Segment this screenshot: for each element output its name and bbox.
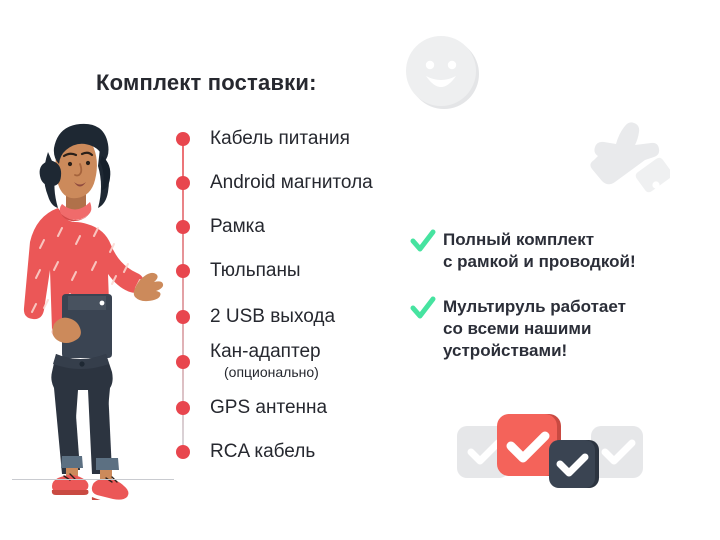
list-item-label: Кабель питания [210, 128, 350, 149]
bullet-dot-icon [176, 355, 190, 369]
list-item-label: Тюльпаны [210, 260, 301, 281]
feature-line: устройствами! [443, 341, 567, 360]
page-title: Комплект поставки: [96, 70, 317, 96]
green-check-icon [410, 228, 436, 254]
checkbox-card-navy [549, 440, 599, 488]
list-item: 2 USB выхода [176, 306, 335, 328]
avito-watermark: Avito [602, 498, 708, 532]
green-check-icon [410, 295, 436, 321]
list-item: Кан-адаптер (опционально) [176, 341, 321, 382]
feature-line: Полный комплект [443, 230, 594, 249]
list-item-label: Android магнитола [210, 172, 373, 193]
list-item-label: GPS антенна [210, 397, 327, 418]
feature-line: с рамкой и проводкой! [443, 252, 636, 271]
list-item: RCA кабель [176, 441, 315, 463]
list-item: Android магнитола [176, 172, 373, 194]
feature-multisteering: Мультируль работает со всеми нашими устр… [410, 296, 626, 362]
bullet-dot-icon [176, 445, 190, 459]
kit-list: Кабель питания Android магнитола Рамка Т… [176, 128, 406, 458]
bullet-dot-icon [176, 401, 190, 415]
list-item-label: RCA кабель [210, 441, 315, 462]
list-item: Кабель питания [176, 128, 350, 150]
bullet-dot-icon [176, 176, 190, 190]
promo-canvas: Комплект поставки: Кабель питания Androi… [0, 0, 720, 540]
bullet-dot-icon [176, 132, 190, 146]
feature-line: со всеми нашими [443, 319, 591, 338]
list-item: Рамка [176, 216, 265, 238]
woman-pointing-illustration [14, 112, 174, 500]
thumbs-up-icon [578, 118, 670, 210]
checkbox-cards-group [455, 404, 645, 504]
ground-line [12, 479, 174, 480]
bullet-dot-icon [176, 310, 190, 324]
smiley-face-icon [404, 34, 482, 112]
list-item-label: Рамка [210, 216, 265, 237]
feature-full-kit: Полный комплект с рамкой и проводкой! [410, 229, 636, 273]
bullet-dot-icon [176, 264, 190, 278]
list-item: Тюльпаны [176, 260, 301, 282]
list-item-sublabel: (опционально) [224, 364, 319, 380]
avito-watermark-text: Avito [636, 503, 693, 529]
list-item-label: 2 USB выхода [210, 306, 335, 327]
feature-line: Мультируль работает [443, 297, 626, 316]
bullet-dot-icon [176, 220, 190, 234]
list-item-label: Кан-адаптер [210, 341, 321, 362]
list-item: GPS антенна [176, 397, 327, 419]
